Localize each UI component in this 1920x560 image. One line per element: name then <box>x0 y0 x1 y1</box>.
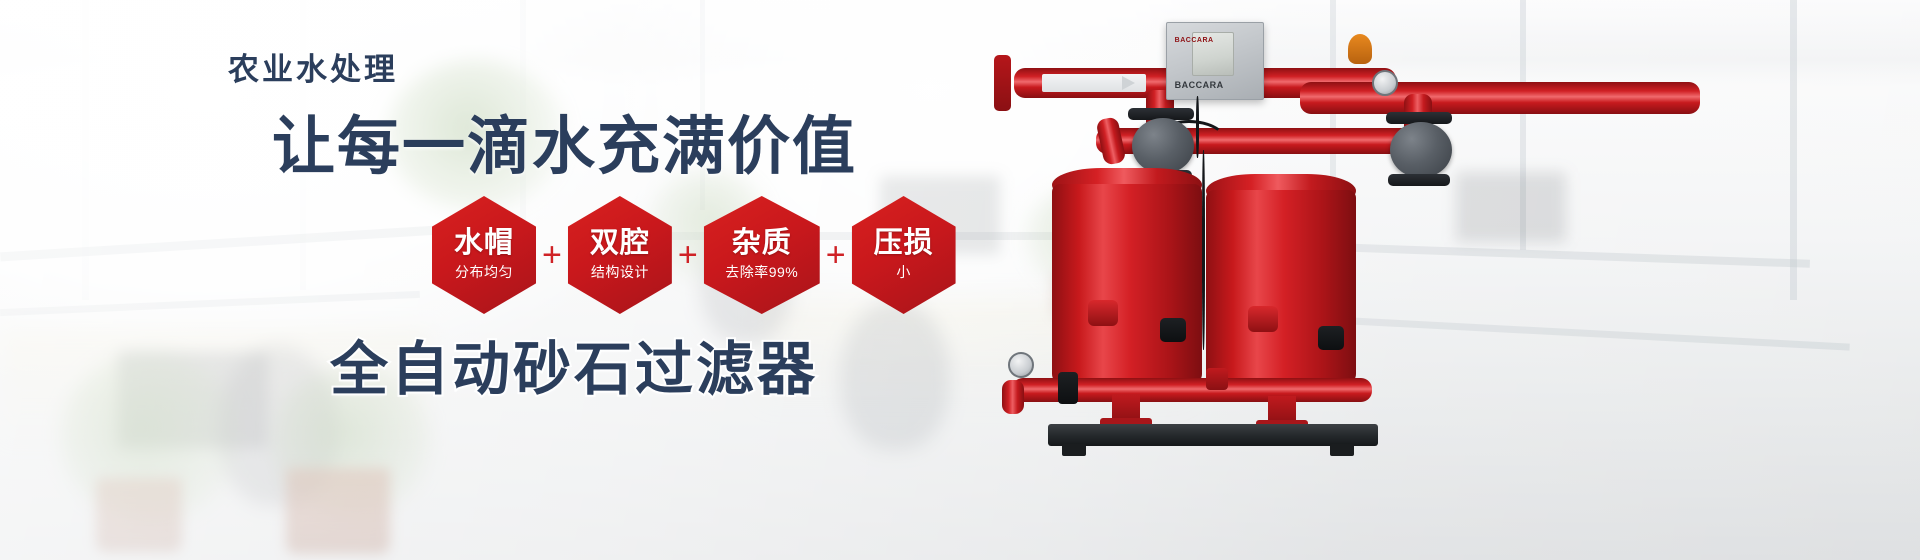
plus-separator-2: + <box>678 238 698 272</box>
feature-badge-3[interactable]: 杂质 去除率99% <box>704 196 820 314</box>
valve-flange-right-bottom <box>1388 174 1450 186</box>
control-box[interactable]: BACCARA BACCARA <box>1166 22 1264 100</box>
feature-badge-4[interactable]: 压损 小 <box>852 196 956 314</box>
control-box-logo-text: BACCARA <box>1175 37 1214 44</box>
control-box-brand-text: BACCARA <box>1175 80 1224 90</box>
feature-badge-1[interactable]: 水帽 分布均匀 <box>432 196 536 314</box>
plus-separator-3: + <box>826 238 846 272</box>
manifold-tee <box>1206 368 1228 390</box>
badge-title-2: 双腔 <box>590 228 650 258</box>
badge-subtitle-4: 小 <box>896 262 911 282</box>
badge-subtitle-1: 分布均匀 <box>455 262 513 282</box>
hexagon-shape-4: 压损 小 <box>852 196 956 314</box>
page-title: 让每一滴水充满价值 <box>272 96 857 187</box>
tank-left-clamp <box>1160 318 1186 342</box>
tank-right-clamp <box>1318 326 1344 350</box>
badge-subtitle-2: 结构设计 <box>591 262 649 282</box>
feature-badge-row: 水帽 分布均匀 + 双腔 结构设计 + 杂质 去除率99% + <box>432 196 956 314</box>
tank-right-port <box>1248 306 1278 332</box>
flow-arrow-icon <box>1122 76 1135 90</box>
control-cable-down <box>1202 150 1205 350</box>
hero-banner: BACCARA BACCARA <box>0 0 1920 560</box>
hexagon-shape-2: 双腔 结构设计 <box>568 196 672 314</box>
valve-right[interactable] <box>1390 122 1452 178</box>
plus-separator-1: + <box>542 238 562 272</box>
pressure-relief-valve-icon <box>1348 34 1372 64</box>
eyebrow-text: 农业水处理 <box>228 44 398 89</box>
badge-subtitle-3: 去除率99% <box>725 262 798 282</box>
hexagon-shape-1: 水帽 分布均匀 <box>432 196 536 314</box>
badge-title-4: 压损 <box>874 228 934 258</box>
hexagon-shape-3: 杂质 去除率99% <box>704 196 820 314</box>
air-relief-stub <box>1095 116 1126 166</box>
badge-title-3: 杂质 <box>732 228 792 258</box>
badge-title-1: 水帽 <box>454 228 514 258</box>
filter-tank-right <box>1206 190 1356 384</box>
product-name-heading: 全自动砂石过滤器 <box>330 322 818 406</box>
feature-badge-2[interactable]: 双腔 结构设计 <box>568 196 672 314</box>
valve-left[interactable] <box>1132 118 1194 174</box>
sand-filter-equipment: BACCARA BACCARA <box>1000 0 1920 560</box>
base-leg <box>1330 444 1354 456</box>
upper-manifold-pipe <box>1300 82 1700 114</box>
pressure-gauge-top <box>1372 70 1398 96</box>
banner-copy: 农业水处理 让每一滴水充满价值 水帽 分布均匀 + 双腔 结构设计 + 杂质 <box>0 0 1100 560</box>
